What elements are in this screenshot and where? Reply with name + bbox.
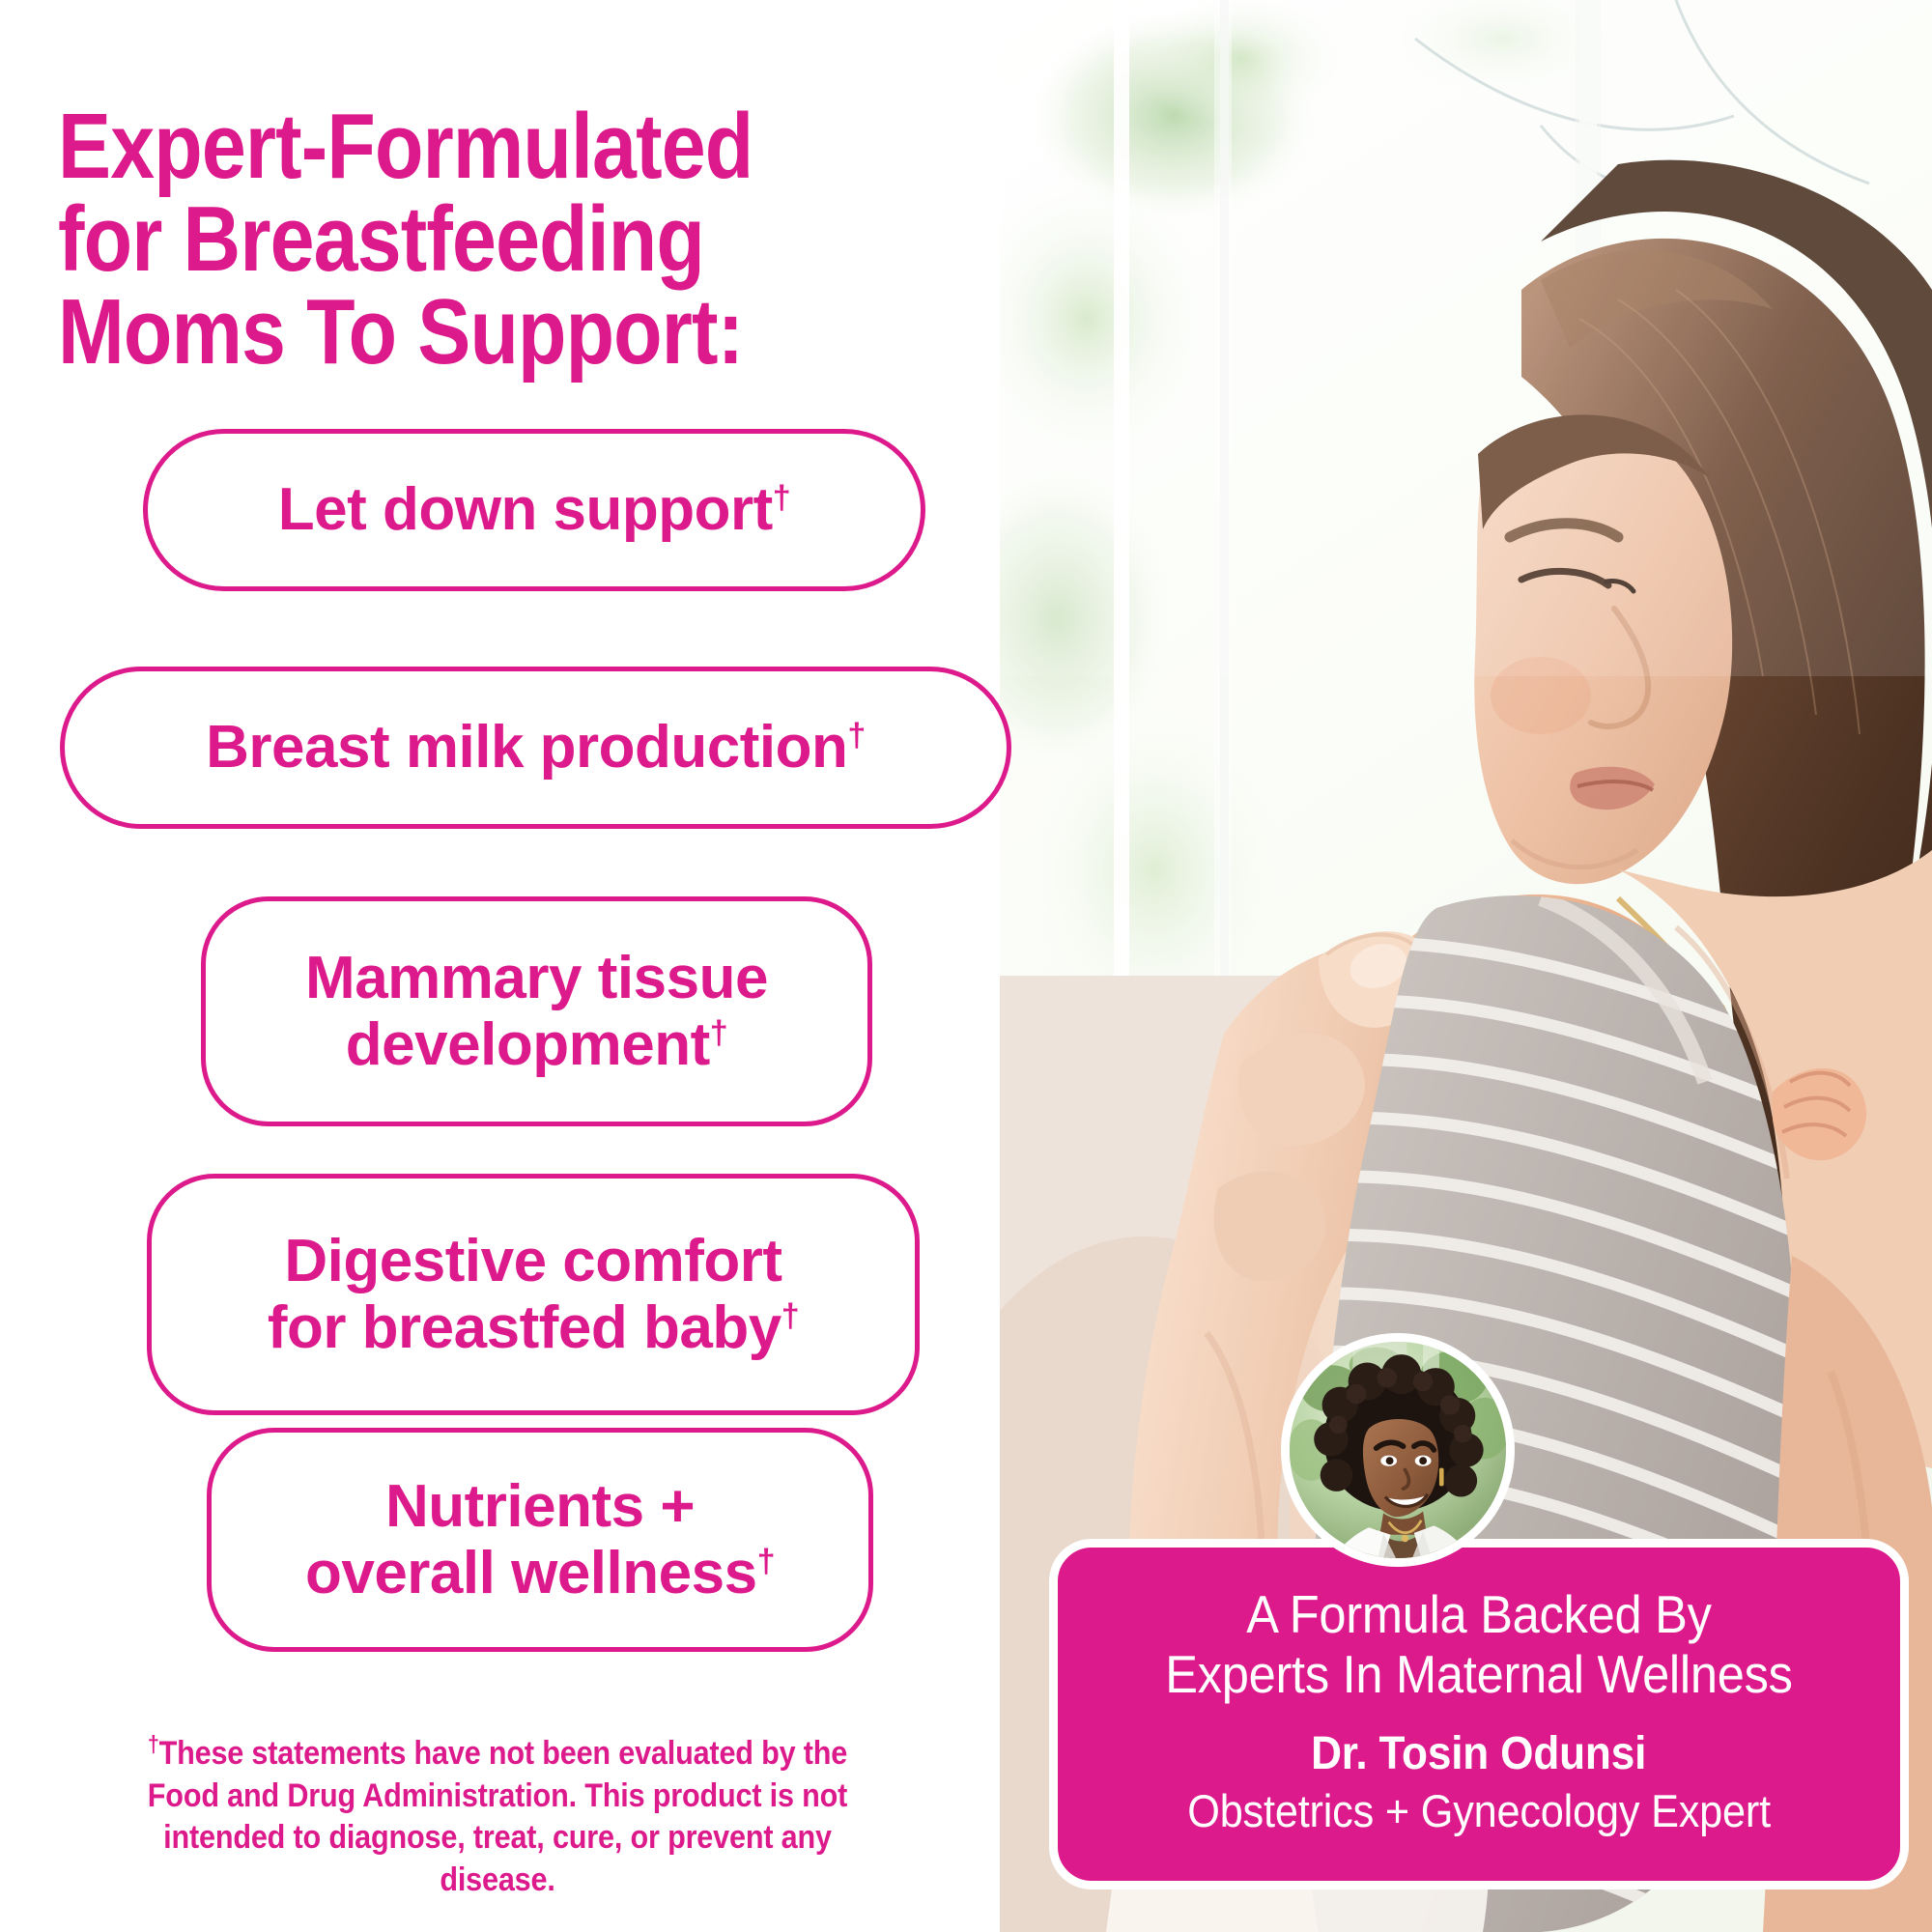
promo-graphic: A Formula Backed By Experts In Maternal … (0, 0, 1932, 1932)
dagger-marker: † (148, 1732, 159, 1758)
disclaimer-text: These statements have not been evaluated… (148, 1735, 847, 1898)
expert-card-headline-line2: Experts In Maternal Wellness (1165, 1645, 1792, 1705)
doctor-avatar (1281, 1333, 1515, 1567)
fda-disclaimer: †These statements have not been evaluate… (111, 1733, 885, 1901)
expert-name: Dr. Tosin Odunsi (1311, 1729, 1646, 1780)
benefit-pill-label: Mammary tissue development† (288, 945, 785, 1079)
benefit-pill-digestive-comfort: Digestive comfort for breastfed baby† (147, 1174, 920, 1415)
benefit-pill-let-down-support: Let down support† (143, 429, 925, 591)
left-content-panel: Expert-Formulated for Breastfeeding Moms… (0, 0, 1005, 1932)
benefit-text: Let down support (278, 476, 773, 543)
dagger-marker: † (773, 480, 790, 517)
benefit-pill-label: Let down support† (261, 476, 809, 543)
headline-line-1: Expert-Formulated (58, 100, 847, 193)
benefit-text-line1: Digestive comfort (284, 1228, 781, 1294)
page-title: Expert-Formulated for Breastfeeding Moms… (58, 100, 847, 379)
dagger-marker: † (847, 718, 865, 754)
benefit-pill-nutrients-overall-wellness: Nutrients + overall wellness† (207, 1428, 873, 1652)
headline-line-3: Moms To Support: (58, 286, 847, 379)
benefit-pill-label: Breast milk production† (188, 714, 883, 781)
benefit-text-line1: Mammary tissue (305, 945, 768, 1011)
benefit-text-line2: development (346, 1011, 710, 1078)
benefit-text-line2: overall wellness (305, 1540, 757, 1606)
expert-card-headline: A Formula Backed By Experts In Maternal … (1165, 1585, 1792, 1704)
benefit-pill-label: Nutrients + overall wellness† (288, 1473, 792, 1607)
dagger-marker: † (781, 1297, 799, 1334)
dagger-marker: † (710, 1014, 727, 1051)
benefit-text: Breast milk production (206, 714, 847, 781)
doctor-portrait-illustration (1290, 1342, 1506, 1558)
expert-role: Obstetrics + Gynecology Expert (1187, 1786, 1771, 1837)
benefit-text-line2: for breastfed baby (268, 1294, 781, 1361)
expert-card-headline-line1: A Formula Backed By (1165, 1585, 1792, 1645)
benefit-pill-mammary-tissue-development: Mammary tissue development† (201, 896, 872, 1126)
benefit-pill-breast-milk-production: Breast milk production† (60, 667, 1011, 829)
dagger-marker: † (757, 1543, 775, 1579)
benefit-pill-label: Digestive comfort for breastfed baby† (250, 1228, 816, 1362)
expert-endorsement-card: A Formula Backed By Experts In Maternal … (1049, 1539, 1909, 1889)
benefit-text-line1: Nutrients + (385, 1473, 695, 1540)
headline-line-2: for Breastfeeding (58, 193, 847, 286)
